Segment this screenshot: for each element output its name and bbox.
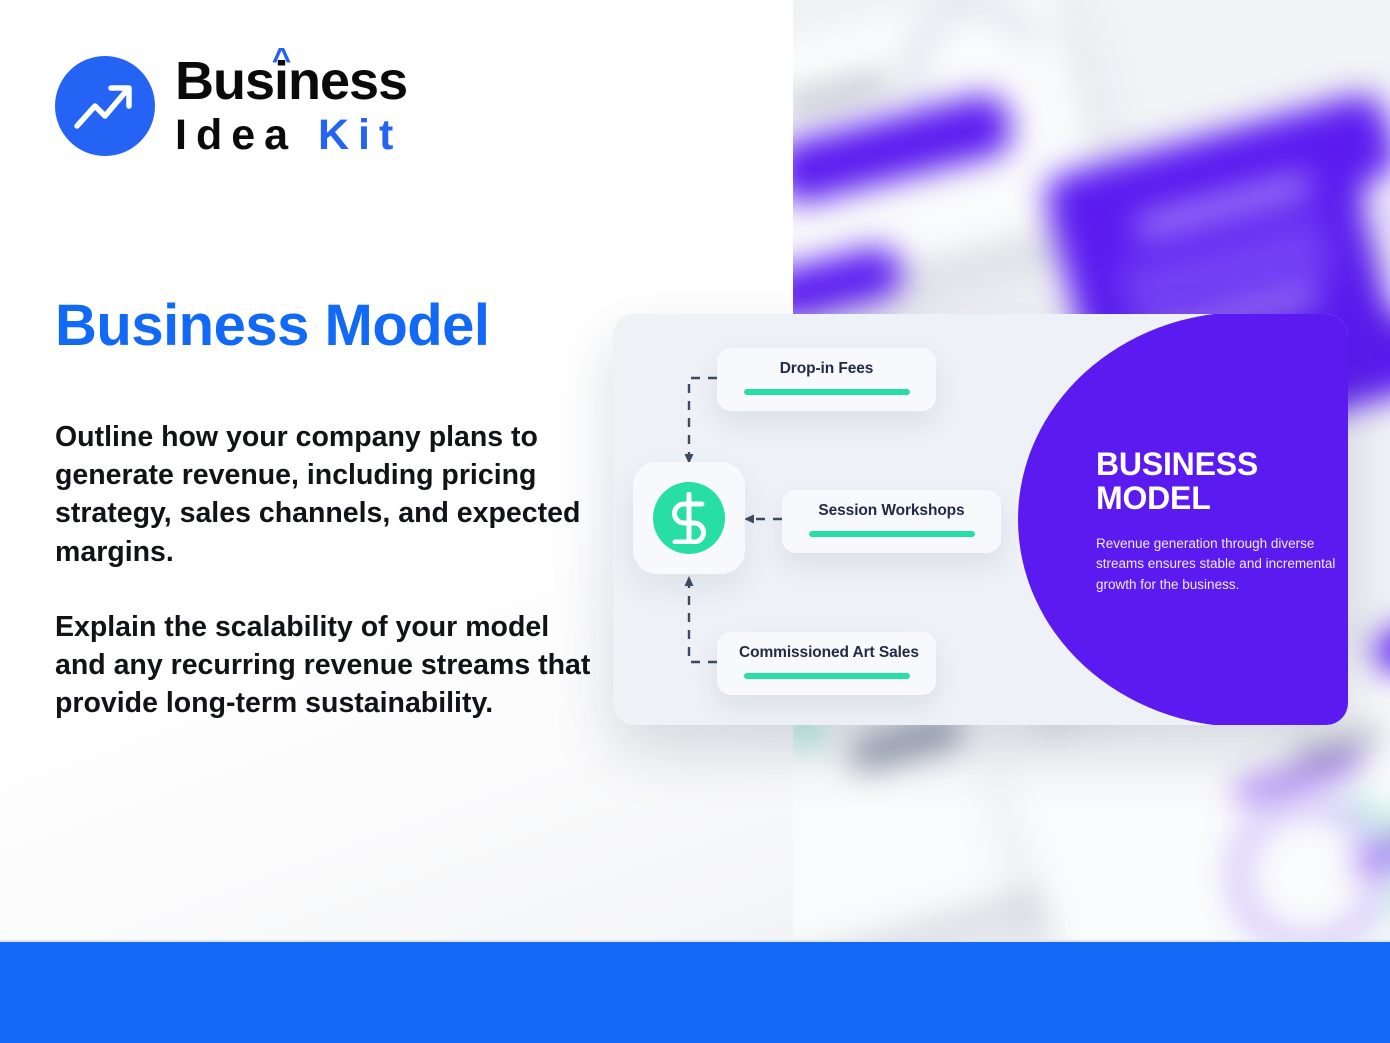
stream-node-underline xyxy=(744,673,910,679)
brand-name-line1: Bus^iness xyxy=(175,54,407,108)
brand-name-post: ness xyxy=(288,51,407,111)
brand-name-kit: Kit xyxy=(318,111,402,159)
stream-node-label: Session Workshops xyxy=(804,502,979,520)
revenue-hub xyxy=(633,462,745,574)
body-paragraph-2: Explain the scalability of your model an… xyxy=(55,608,595,723)
growth-arrow-icon xyxy=(55,56,155,156)
business-model-card: Drop-in Fees Session Workshops Commissio… xyxy=(613,314,1348,725)
stream-node-drop-in-fees[interactable]: Drop-in Fees xyxy=(717,348,936,411)
revenue-streams-diagram: Drop-in Fees Session Workshops Commissio… xyxy=(613,314,1073,725)
footer-bar xyxy=(0,942,1390,1043)
brand-name-pre: Bus xyxy=(175,51,274,111)
brand-wordmark: Bus^iness Idea Kit xyxy=(175,54,407,157)
stream-node-underline xyxy=(744,389,910,395)
stream-node-label: Commissioned Art Sales xyxy=(739,644,914,662)
dollar-sign-icon xyxy=(653,482,725,554)
stream-node-underline xyxy=(809,531,975,537)
circumflex-accent-icon: ^ xyxy=(272,44,291,77)
brand-name-line2: Idea Kit xyxy=(175,114,407,157)
card-panel-title: BUSINESS MODEL xyxy=(1096,447,1326,515)
stream-node-commissioned-art-sales[interactable]: Commissioned Art Sales xyxy=(717,632,936,695)
brand-name-accent-i: ^i xyxy=(274,51,288,111)
page-title: Business Model xyxy=(55,296,490,357)
slide-root: Bus^iness Idea Kit Business Model Outlin… xyxy=(0,0,1390,1043)
stream-node-session-workshops[interactable]: Session Workshops xyxy=(782,490,1001,553)
card-panel-subtitle: Revenue generation through diverse strea… xyxy=(1096,534,1342,595)
brand-name-idea: Idea xyxy=(175,111,318,159)
stream-node-label: Drop-in Fees xyxy=(739,360,914,378)
brand-logo[interactable]: Bus^iness Idea Kit xyxy=(55,54,407,157)
body-paragraph-1: Outline how your company plans to genera… xyxy=(55,418,595,571)
